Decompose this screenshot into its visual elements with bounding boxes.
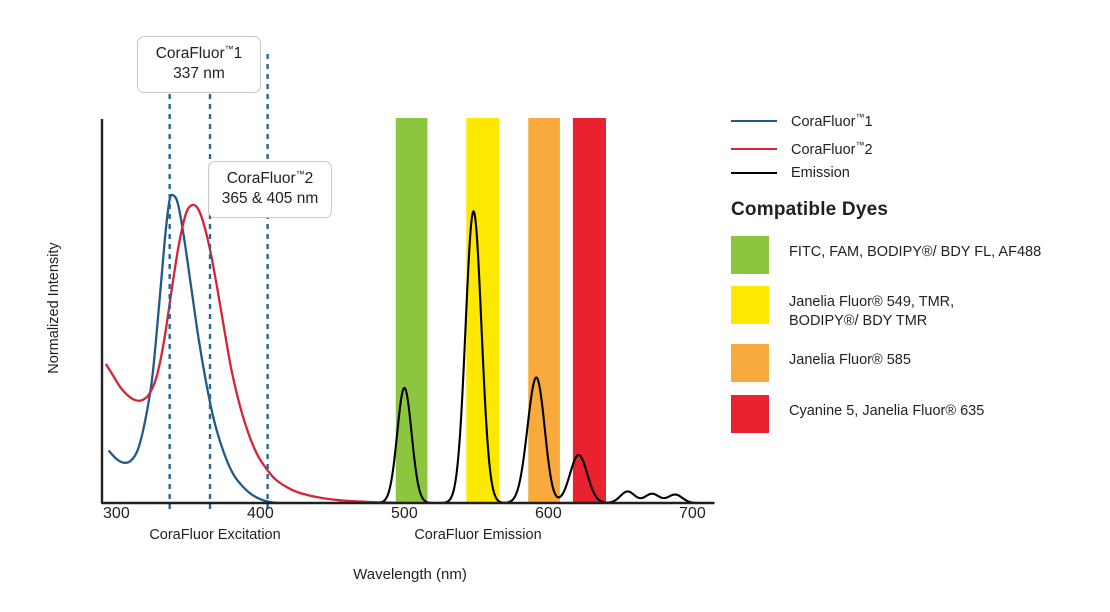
green-band xyxy=(396,118,428,503)
legend-panel: CoraFluor™1 CoraFluor™2 Emission Compati… xyxy=(726,0,1110,612)
legend-label-corafluor2: CoraFluor™2 xyxy=(791,140,873,158)
legend-line-corafluor2 xyxy=(731,148,777,150)
corafluor1-callout-line1: CoraFluor™1 xyxy=(150,44,248,64)
excitation-curve-1 xyxy=(109,195,277,503)
x-tick-300: 300 xyxy=(86,505,146,523)
dye-orange-swatch xyxy=(731,344,769,382)
corafluor2-callout-line2: 365 & 405 nm xyxy=(221,189,319,209)
red-band xyxy=(573,118,606,503)
excitation-curve-2 xyxy=(106,205,404,503)
dye-red-swatch xyxy=(731,395,769,433)
compatible-dyes-title: Compatible Dyes xyxy=(731,199,888,221)
plot-area: Normalized Intensity 300 400 500 600 700… xyxy=(0,0,740,612)
corafluor1-callout-line2: 337 nm xyxy=(150,64,248,84)
corafluor2-callout: CoraFluor™2 365 & 405 nm xyxy=(208,161,332,218)
dye-yellow-label: Janelia Fluor® 549, TMR,BODIPY®/ BDY TMR xyxy=(789,286,954,331)
legend-line-corafluor1 xyxy=(731,120,777,122)
dye-yellow: Janelia Fluor® 549, TMR,BODIPY®/ BDY TMR xyxy=(731,286,954,331)
dye-red: Cyanine 5, Janelia Fluor® 635 xyxy=(731,395,984,433)
legend-corafluor2: CoraFluor™2 xyxy=(731,140,873,158)
legend-emission: Emission xyxy=(731,165,850,181)
emission-region-label: CoraFluor Emission xyxy=(378,527,578,543)
yellow-band xyxy=(466,118,499,503)
corafluor2-callout-line1: CoraFluor™2 xyxy=(221,169,319,189)
legend-corafluor1: CoraFluor™1 xyxy=(731,112,873,130)
excitation-region-label: CoraFluor Excitation xyxy=(115,527,315,543)
legend-label-emission: Emission xyxy=(791,165,850,181)
legend-line-emission xyxy=(731,172,777,174)
orange-band xyxy=(528,118,560,503)
chart-figure: Normalized Intensity 300 400 500 600 700… xyxy=(0,0,1110,612)
x-tick-600: 600 xyxy=(518,505,578,523)
dye-green-swatch xyxy=(731,236,769,274)
x-tick-700: 700 xyxy=(662,505,722,523)
dye-orange: Janelia Fluor® 585 xyxy=(731,344,911,382)
dye-green: FITC, FAM, BODIPY®/ BDY FL, AF488 xyxy=(731,236,1041,274)
corafluor1-callout: CoraFluor™1 337 nm xyxy=(137,36,261,93)
dye-red-label: Cyanine 5, Janelia Fluor® 635 xyxy=(789,395,984,421)
dye-orange-label: Janelia Fluor® 585 xyxy=(789,344,911,370)
x-tick-400: 400 xyxy=(230,505,290,523)
x-tick-500: 500 xyxy=(374,505,434,523)
dye-green-label: FITC, FAM, BODIPY®/ BDY FL, AF488 xyxy=(789,236,1041,262)
x-axis-label: Wavelength (nm) xyxy=(280,566,540,583)
legend-label-corafluor1: CoraFluor™1 xyxy=(791,112,873,130)
y-axis-label: Normalized Intensity xyxy=(46,218,62,398)
dye-yellow-swatch xyxy=(731,286,769,324)
